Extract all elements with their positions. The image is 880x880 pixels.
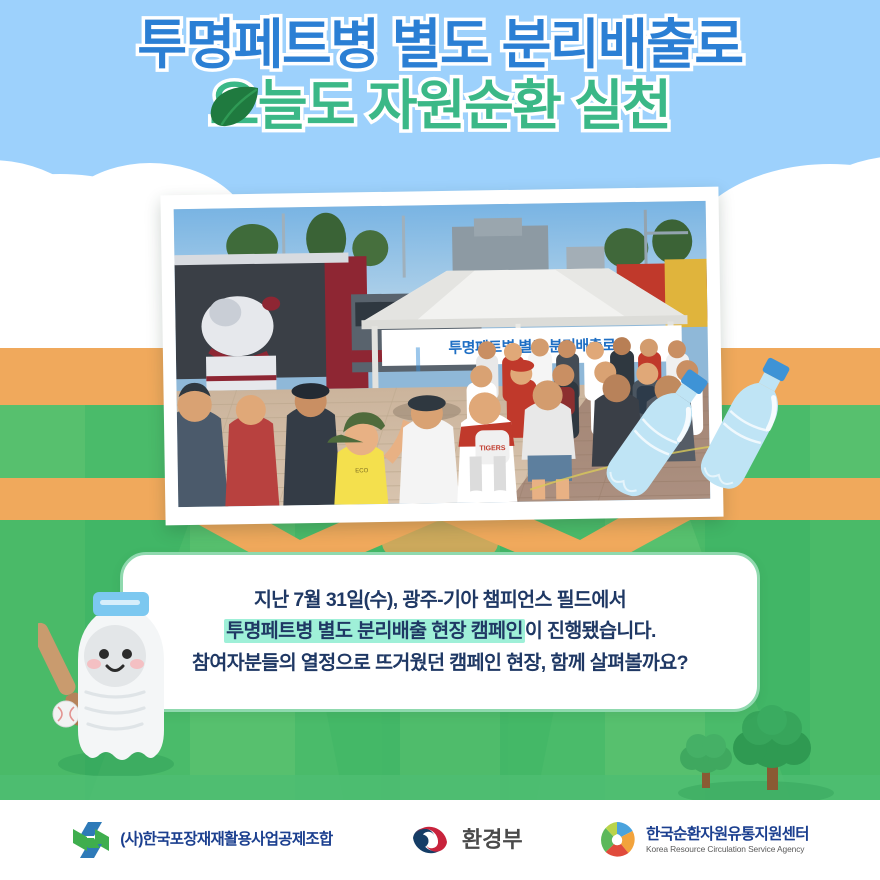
logo-krcsa-name-ko: 한국순환자원유통지원센터 [646, 826, 809, 844]
description-card: 지난 7월 31일(수), 광주-기아 챔피언스 필드에서 투명페트병 별도 분… [120, 552, 760, 712]
svg-text:ECO: ECO [355, 468, 368, 474]
tree-icon [733, 705, 811, 790]
krcsa-circle-logo [597, 820, 637, 860]
description-line-2-tail: 이 진행됐습니다. [525, 620, 656, 642]
description-line-2: 투명페트병 별도 분리배출 현장 캠페인이 진행됐습니다. [192, 616, 688, 648]
pet-bottle-mascot [38, 586, 186, 776]
svg-text:TIGERS: TIGERS [479, 445, 505, 452]
title-line-2: 오늘도 자원순환 실천 [210, 79, 671, 134]
logo-kprc-name: (사)한국포장재재활용사업공제조합 [120, 831, 332, 849]
description-line-1: 지난 7월 31일(수), 광주-기아 챔피언스 필드에서 [192, 585, 688, 617]
logo-ministry-name: 환경부 [462, 827, 523, 852]
description-line-3: 참여자분들의 열정으로 뜨거웠던 캠페인 현장, 함께 살펴볼까요? [192, 648, 688, 680]
poster-root: 투명페트병 별도 분리배출로 오늘도 자원순환 실천 [0, 0, 880, 880]
poster-title: 투명페트병 별도 분리배출로 오늘도 자원순환 실천 [0, 18, 880, 134]
logo-ministry-text: 환경부 [462, 827, 523, 852]
tree-icon [680, 734, 732, 788]
logo-krcsa-text: 한국순환자원유통지원센터 Korea Resource Circulation … [646, 826, 809, 855]
ministry-taegeuk-logo [407, 817, 453, 863]
highlighted-phrase: 투명페트병 별도 분리배출 현장 캠페인 [224, 619, 525, 643]
tree-group [660, 700, 850, 805]
logo-krcsa-name-en: Korea Resource Circulation Service Agenc… [646, 844, 809, 854]
logo-kprc-text: (사)한국포장재재활용사업공제조합 [120, 831, 332, 849]
footer-logos: (사)한국포장재재활용사업공제조합 환경부 [0, 800, 880, 880]
logo-krcsa: 한국순환자원유통지원센터 Korea Resource Circulation … [597, 820, 809, 860]
title-line-1: 투명페트병 별도 분리배출로 [0, 18, 880, 73]
logo-kprc: (사)한국포장재재활용사업공제조합 [71, 820, 332, 860]
logo-ministry-environment: 환경부 [407, 817, 523, 863]
description-text: 지난 7월 31일(수), 광주-기아 챔피언스 필드에서 투명페트병 별도 분… [174, 585, 706, 680]
title-line-2-wrap: 오늘도 자원순환 실천 [210, 73, 671, 134]
kprc-pinwheel-logo [71, 820, 111, 860]
